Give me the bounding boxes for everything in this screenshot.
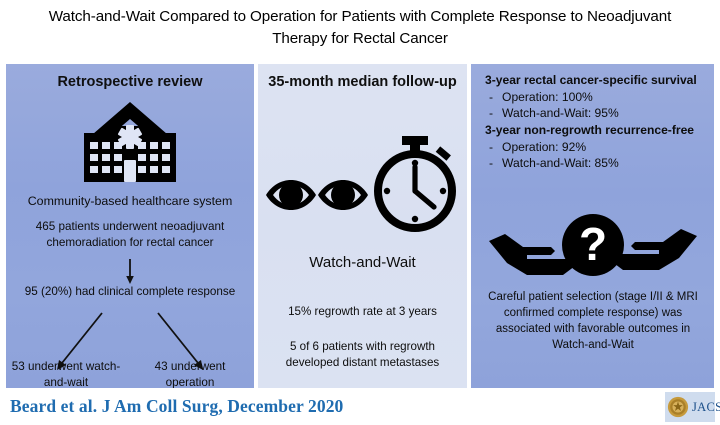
page-title: Watch-and-Wait Compared to Operation for…: [38, 6, 682, 49]
stat-heading-survival: 3-year rectal cancer-specific survival: [485, 72, 709, 89]
bullet-dash: -: [489, 89, 493, 106]
right-hand-icon: [611, 229, 697, 270]
stat-item-label: Watch-and-Wait: 85%: [502, 155, 619, 172]
question-mark-in-hands-icon: ?: [483, 214, 703, 284]
right-panel-caption: Careful patient selection (stage I/II & …: [479, 290, 707, 353]
eyes-icon: [264, 169, 370, 221]
stat-item-recurrence-operation: - Operation: 92%: [485, 139, 709, 156]
left-hand-icon: [489, 234, 575, 275]
stat-item-label: Operation: 100%: [502, 89, 593, 106]
stat-item-survival-operation: - Operation: 100%: [485, 89, 709, 106]
middle-panel-heading: 35-month median follow-up: [264, 73, 461, 92]
panels-container: Retrospective review: [6, 64, 714, 388]
infographic-root: Watch-and-Wait Compared to Operation for…: [0, 0, 720, 425]
question-mark-glyph: ?: [579, 218, 607, 270]
flow-step-1: 465 patients underwent neoadjuvant chemo…: [14, 219, 246, 251]
panel-follow-up: 35-month median follow-up: [258, 64, 467, 388]
jacs-seal-icon: [667, 396, 689, 418]
flow-step-3-operation: 43 underwent operation: [134, 359, 246, 388]
stopwatch-icon: [370, 134, 462, 232]
panel-retrospective-review: Retrospective review: [6, 64, 254, 388]
stat-item-label: Operation: 92%: [502, 139, 586, 156]
middle-panel-subheading: Watch-and-Wait: [258, 254, 467, 271]
flow-step-3-watch-and-wait: 53 underwent watch-and-wait: [10, 359, 122, 388]
stats-list: 3-year rectal cancer-specific survival -…: [485, 72, 709, 172]
left-panel-caption: Community-based healthcare system: [6, 193, 254, 210]
arrow-down-icon: [123, 259, 137, 285]
stat-item-label: Watch-and-Wait: 95%: [502, 105, 619, 122]
stat-heading-recurrence: 3-year non-regrowth recurrence-free: [485, 122, 709, 139]
jacs-logo: JACS: [665, 392, 715, 422]
bullet-dash: -: [489, 139, 493, 156]
left-panel-heading: Retrospective review: [6, 73, 254, 92]
hospital-icon: [67, 96, 193, 186]
jacs-logo-text: JACS: [692, 400, 720, 415]
bullet-dash: -: [489, 105, 493, 122]
metastases-text: 5 of 6 patients with regrowth developed …: [264, 339, 461, 370]
regrowth-rate-text: 15% regrowth rate at 3 years: [264, 304, 461, 320]
stat-item-survival-watch-and-wait: - Watch-and-Wait: 95%: [485, 105, 709, 122]
flow-step-2: 95 (20%) had clinical complete response: [18, 284, 242, 300]
stat-item-recurrence-watch-and-wait: - Watch-and-Wait: 85%: [485, 155, 709, 172]
panel-outcomes: 3-year rectal cancer-specific survival -…: [471, 64, 714, 388]
citation: Beard et al. J Am Coll Surg, December 20…: [10, 396, 343, 417]
bullet-dash: -: [489, 155, 493, 172]
